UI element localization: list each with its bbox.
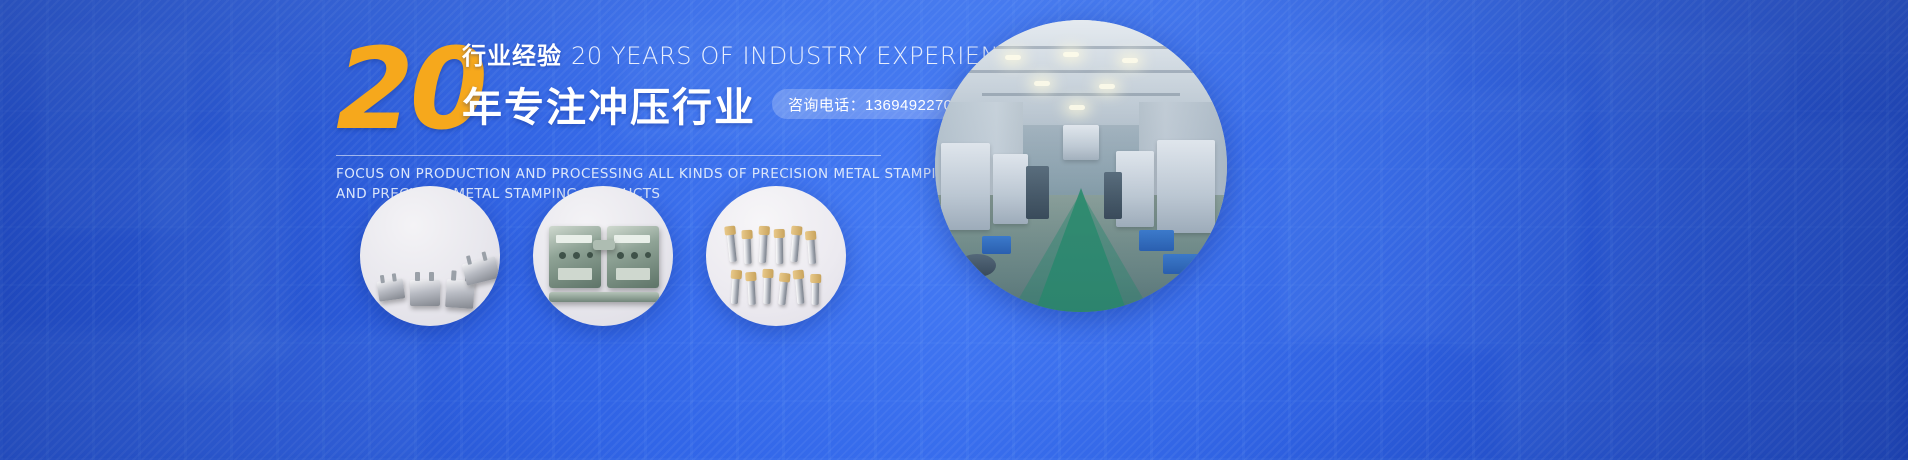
factory-workshop-photo: [935, 20, 1227, 312]
main-headline-cn: 年专注冲压行业: [462, 75, 756, 133]
stamping-mold-photo: [533, 186, 673, 326]
experience-label-cn: 行业经验: [462, 36, 562, 71]
headline-block: 20 行业经验 20 YEARS OF INDUSTRY EXPERIENCE …: [336, 36, 896, 205]
headline-top-row: 20 行业经验 20 YEARS OF INDUSTRY EXPERIENCE …: [336, 36, 896, 144]
promo-banner: 20 行业经验 20 YEARS OF INDUSTRY EXPERIENCE …: [0, 0, 1908, 460]
stamped-connector-parts-photo: [360, 186, 500, 326]
headline-divider: [336, 155, 881, 156]
factory-photo-tint: [935, 20, 1227, 312]
subtitle-line-1: FOCUS ON PRODUCTION AND PROCESSING ALL K…: [336, 165, 896, 185]
stamped-pin-terminals-photo: [706, 186, 846, 326]
